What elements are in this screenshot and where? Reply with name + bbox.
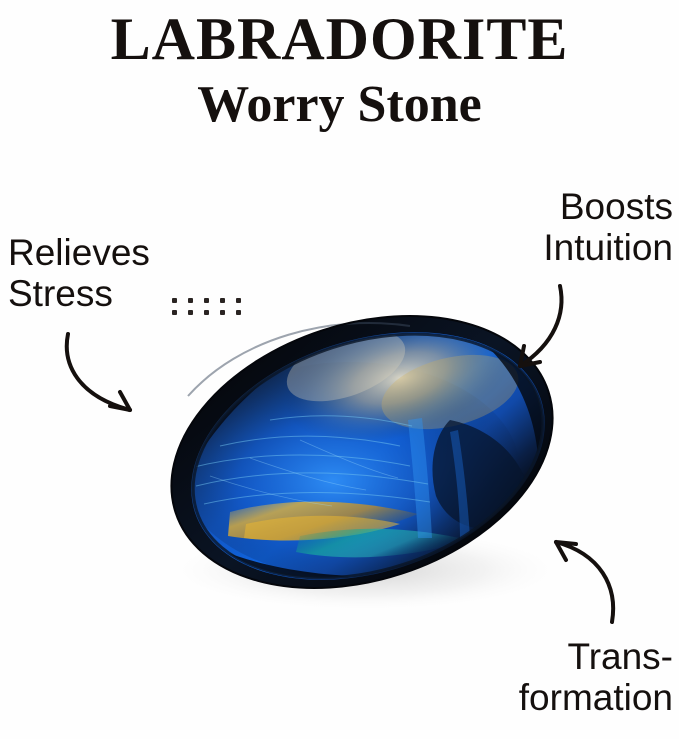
callout-boosts-intuition: Boosts Intuition (543, 186, 673, 269)
callout-transformation: Trans- formation (519, 636, 673, 719)
callout-relieves-stress: Relieves Stress (8, 232, 150, 315)
dotted-accent-icon (172, 296, 256, 322)
page-subtitle: Worry Stone (0, 78, 679, 133)
page-title: LABRADORITE (0, 8, 679, 71)
labradorite-stone-image (150, 300, 570, 620)
product-image-canvas: LABRADORITE Worry Stone (0, 0, 679, 739)
